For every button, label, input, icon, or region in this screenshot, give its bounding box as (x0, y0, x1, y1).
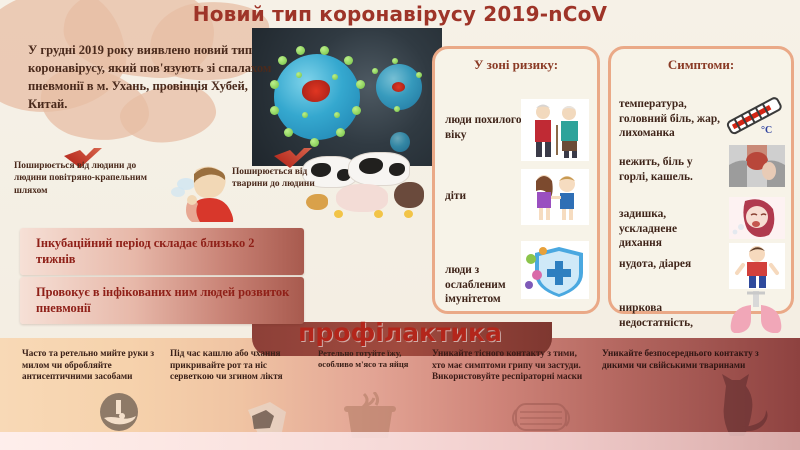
spike-protein-icon (302, 112, 308, 118)
virion-tiny (390, 132, 410, 152)
prevention-item-cough-etiquette: Під час кашлю або чхання прикривайте рот… (170, 348, 310, 383)
spike-protein-icon (296, 72, 302, 78)
prevention-item-avoid-animals: Уникайте безпосереднього контакту з дики… (602, 348, 780, 371)
sore-throat-icon (729, 145, 785, 187)
spike-protein-icon (336, 128, 345, 137)
intro-paragraph: У грудні 2019 року виявлено новий тип ко… (28, 42, 278, 114)
temperature-unit-label: °C (761, 125, 772, 138)
hen-icon (306, 194, 328, 210)
spike-protein-icon (372, 68, 378, 74)
chick-icon (404, 210, 413, 218)
pig-icon (336, 184, 388, 212)
infographic-poster: Новий тип коронавірусу 2019-nCoV У грудн… (0, 0, 800, 450)
spike-protein-icon (332, 74, 338, 80)
transmission-human-label: Поширюється від людини до людини повітря… (14, 160, 164, 197)
elderly-couple-icon (521, 99, 589, 161)
risk-group-box: У зоні ризику: люди похилого віку діти (432, 46, 600, 314)
symptom-breathless: задишка, ускладнене дихання (619, 207, 709, 251)
spike-protein-icon (416, 72, 422, 78)
face-mask-icon (508, 398, 574, 436)
spike-protein-icon (278, 56, 287, 65)
tissue-icon (242, 398, 290, 436)
transmission-animal-label: Поширюється від тварини до людини (232, 166, 332, 191)
shield-immunity-icon (521, 241, 589, 299)
turkey-icon (394, 182, 424, 208)
risk-item-elderly: люди похилого віку (445, 113, 523, 142)
prevention-item-avoid-contact: Уникайте тісного контакту з тими, хто ма… (432, 348, 592, 383)
spike-protein-icon (320, 46, 329, 55)
thermometer-icon (721, 93, 789, 141)
spike-protein-icon (344, 56, 353, 65)
spike-protein-icon (392, 58, 398, 64)
virion-core-small (392, 82, 405, 92)
red-arrow-down-left-icon (268, 126, 328, 170)
risk-item-children: діти (445, 189, 505, 204)
breathless-woman-icon (729, 197, 785, 239)
symptom-nausea: нудота, діарея (619, 257, 709, 272)
prevention-item-cook-food: Ретельно готуйте їжу, особливо м'ясо та … (318, 348, 422, 370)
spike-protein-icon (352, 106, 361, 115)
bottom-fade-strip (0, 432, 800, 450)
spike-protein-icon (296, 46, 305, 55)
incubation-banner: Інкубаційний період складає близько 2 ти… (20, 228, 304, 275)
prevention-item-handwashing: Часто та ретельно мийте руки з милом чи … (22, 348, 162, 383)
symptoms-box: Симптоми: температура, головний біль, жа… (608, 46, 794, 314)
spike-protein-icon (356, 80, 365, 89)
prevention-title: профілактика (0, 318, 800, 347)
two-children-icon (521, 169, 589, 225)
symptoms-box-title: Симптоми: (611, 49, 791, 73)
chick-icon (374, 210, 383, 218)
handwashing-icon (96, 392, 142, 432)
cow-icon (348, 152, 410, 186)
risk-box-title: У зоні ризику: (435, 49, 597, 73)
cat-icon (700, 372, 774, 438)
spike-protein-icon (334, 112, 340, 118)
symptom-sore-throat: нежить, біль у горлі, кашель. (619, 155, 723, 184)
nausea-person-icon (729, 243, 785, 289)
spike-protein-icon (394, 106, 400, 112)
page-title: Новий тип коронавірусу 2019-nCoV (0, 2, 800, 26)
chick-icon (334, 210, 343, 218)
symptom-fever: температура, головний біль, жар, лихоман… (619, 97, 727, 141)
